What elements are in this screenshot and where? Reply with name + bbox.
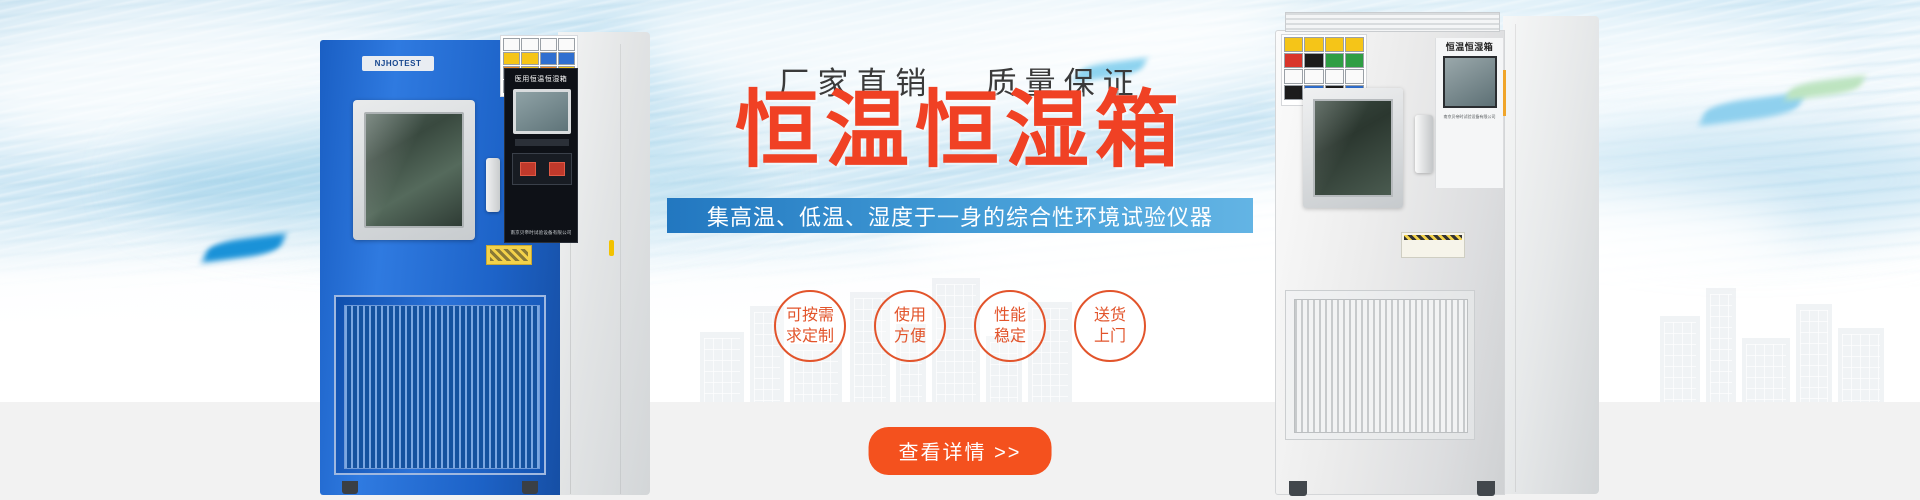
promo-banner: NJHOTEST bbox=[0, 0, 1920, 500]
feature-circle-stable[interactable]: 性能 稳定 bbox=[974, 290, 1046, 362]
subtitle-bar: 集高温、低温、湿度于一身的综合性环境试验仪器 bbox=[667, 198, 1253, 233]
feature-line-2: 方便 bbox=[894, 326, 926, 347]
feature-circle-delivery[interactable]: 送货 上门 bbox=[1074, 290, 1146, 362]
feature-line-1: 使用 bbox=[894, 305, 926, 326]
feature-line-1: 可按需 bbox=[786, 305, 834, 326]
subtitle-text: 集高温、低温、湿度于一身的综合性环境试验仪器 bbox=[707, 200, 1213, 232]
feature-circle-easy-use[interactable]: 使用 方便 bbox=[874, 290, 946, 362]
feature-line-1: 性能 bbox=[994, 305, 1026, 326]
feature-line-2: 上门 bbox=[1094, 326, 1126, 347]
banner-copy: 厂家直销 质量保证 恒温恒湿箱 集高温、低温、湿度于一身的综合性环境试验仪器 可… bbox=[0, 0, 1920, 500]
feature-line-2: 求定制 bbox=[786, 326, 834, 347]
feature-circle-list: 可按需 求定制 使用 方便 性能 稳定 送货 上门 bbox=[774, 290, 1146, 362]
feature-line-1: 送货 bbox=[1094, 305, 1126, 326]
view-details-button[interactable]: 查看详情 >> bbox=[869, 427, 1052, 475]
page-title: 恒温恒湿箱 bbox=[0, 88, 1920, 172]
feature-line-2: 稳定 bbox=[994, 326, 1026, 347]
feature-circle-custom[interactable]: 可按需 求定制 bbox=[774, 290, 846, 362]
